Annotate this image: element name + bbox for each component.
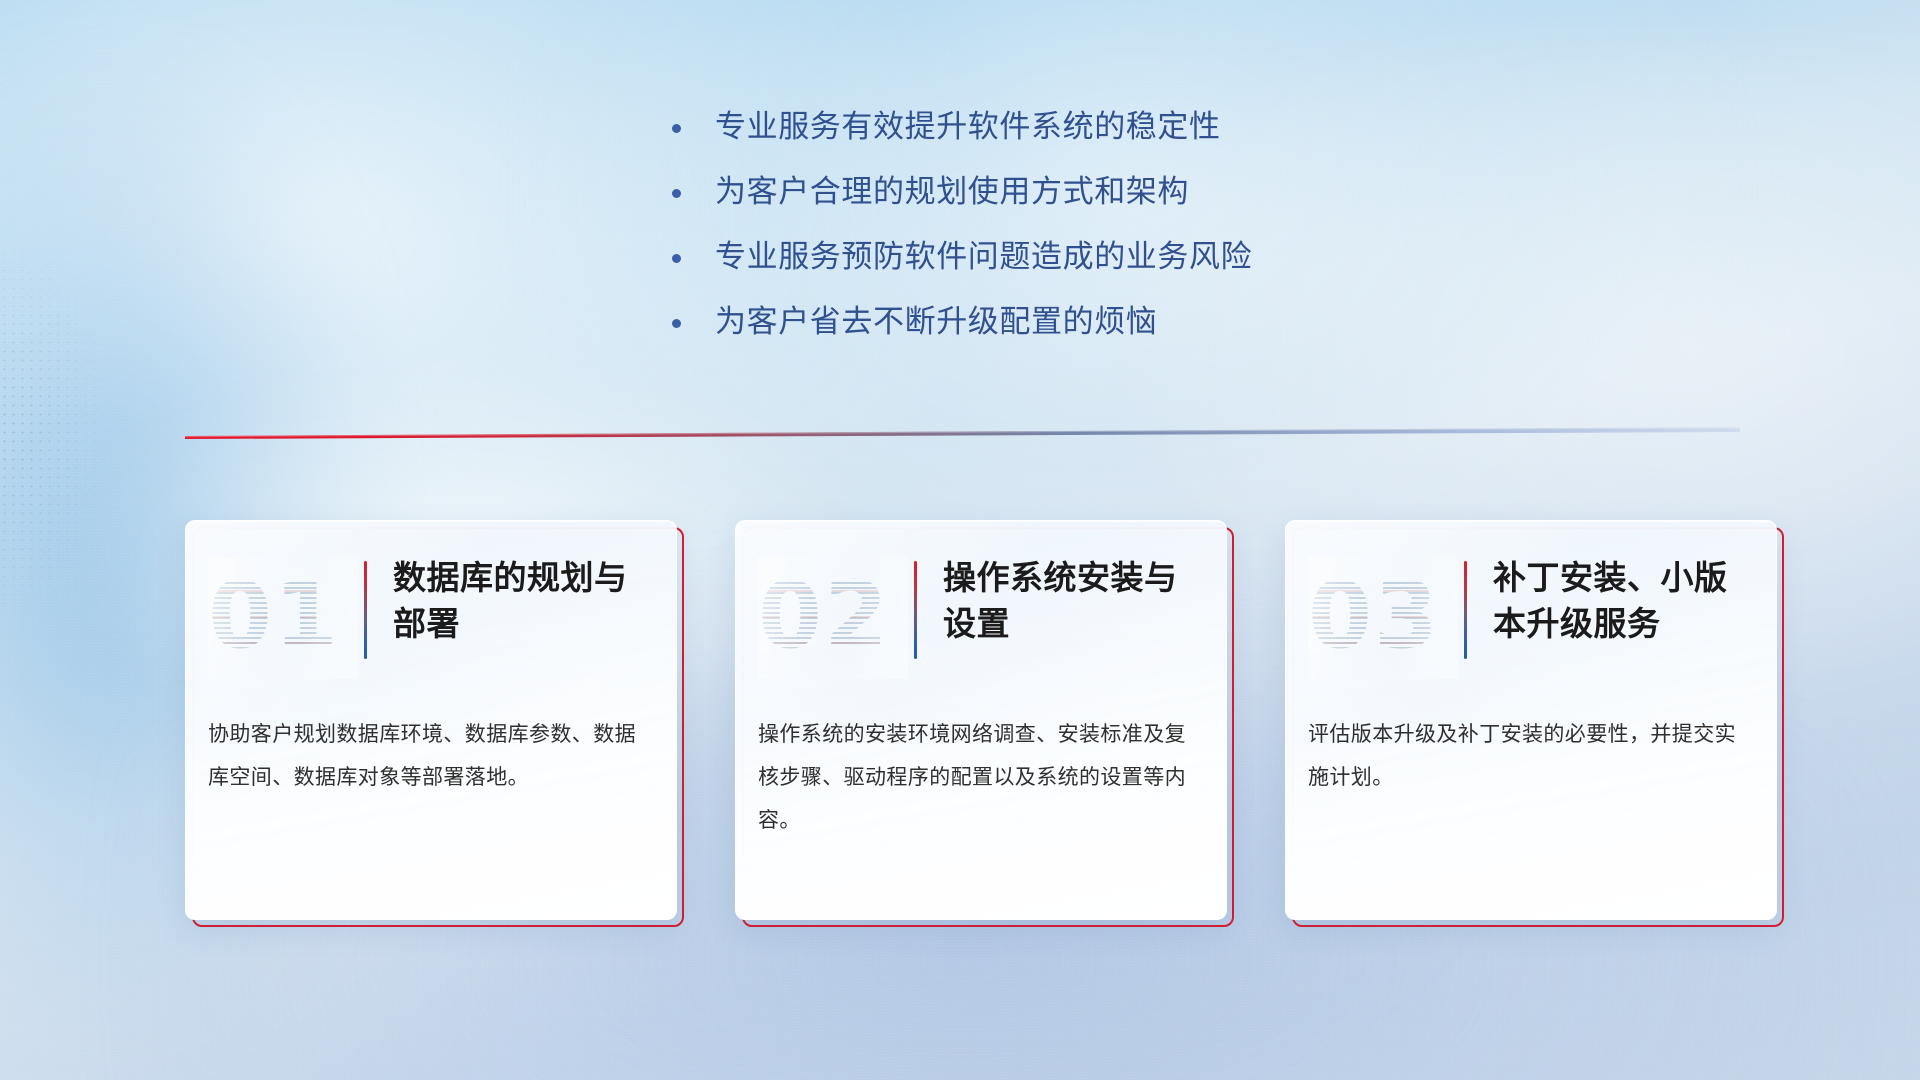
card-number-glyph-tint: 02 — [758, 557, 908, 675]
card-title-rule-icon — [1464, 561, 1467, 659]
card-title-rule-icon — [914, 561, 917, 659]
benefits-bullet-list: 专业服务有效提升软件系统的稳定性 为客户合理的规划使用方式和架构 专业服务预防软… — [672, 106, 1252, 342]
card-body-text: 操作系统的安装环境网络调查、安装标准及复核步骤、驱动程序的配置以及系统的设置等内… — [736, 699, 1226, 842]
bullet-label: 专业服务预防软件问题造成的业务风险 — [715, 236, 1252, 277]
card-number-decoration: 02 02 — [758, 557, 908, 679]
card-surface[interactable]: 01 01 数据库的规划与部署 协助客户规划数据库环境、数据库参数、数据库空间、… — [185, 520, 677, 920]
card-header: 01 01 数据库的规划与部署 — [186, 521, 676, 699]
card-number-decoration: 03 03 — [1308, 557, 1458, 679]
card-header: 03 03 补丁安装、小版本升级服务 — [1286, 521, 1776, 699]
card-number-decoration: 01 01 — [208, 557, 358, 679]
bullet-dot-icon — [672, 319, 681, 328]
bullet-dot-icon — [672, 254, 681, 263]
card-title: 操作系统安装与设置 — [943, 553, 1196, 647]
section-divider — [185, 426, 1740, 444]
bullet-label: 为客户合理的规划使用方式和架构 — [715, 171, 1189, 212]
bullet-label: 为客户省去不断升级配置的烦恼 — [715, 301, 1157, 342]
bullet-dot-icon — [672, 124, 681, 133]
card-title: 补丁安装、小版本升级服务 — [1493, 553, 1746, 647]
service-card-01[interactable]: 01 01 数据库的规划与部署 协助客户规划数据库环境、数据库参数、数据库空间、… — [185, 520, 677, 920]
slide-stage: 专业服务有效提升软件系统的稳定性 为客户合理的规划使用方式和架构 专业服务预防软… — [0, 0, 1920, 1080]
card-number-glyph-tint: 01 — [208, 557, 358, 675]
card-title-rule-icon — [364, 561, 367, 659]
bullet-item: 为客户省去不断升级配置的烦恼 — [672, 301, 1252, 342]
bullet-item: 专业服务有效提升软件系统的稳定性 — [672, 106, 1252, 147]
bullet-item: 为客户合理的规划使用方式和架构 — [672, 171, 1252, 212]
service-card-list: 01 01 数据库的规划与部署 协助客户规划数据库环境、数据库参数、数据库空间、… — [185, 520, 1777, 920]
card-number-glyph-tint: 03 — [1308, 557, 1458, 675]
card-surface[interactable]: 02 02 操作系统安装与设置 操作系统的安装环境网络调查、安装标准及复核步骤、… — [735, 520, 1227, 920]
bullet-item: 专业服务预防软件问题造成的业务风险 — [672, 236, 1252, 277]
card-body-text: 协助客户规划数据库环境、数据库参数、数据库空间、数据库对象等部署落地。 — [186, 699, 676, 799]
card-body-text: 评估版本升级及补丁安装的必要性，并提交实施计划。 — [1286, 699, 1776, 799]
bullet-dot-icon — [672, 189, 681, 198]
bullet-label: 专业服务有效提升软件系统的稳定性 — [715, 106, 1221, 147]
service-card-02[interactable]: 02 02 操作系统安装与设置 操作系统的安装环境网络调查、安装标准及复核步骤、… — [735, 520, 1227, 920]
card-title: 数据库的规划与部署 — [393, 553, 646, 647]
service-card-03[interactable]: 03 03 补丁安装、小版本升级服务 评估版本升级及补丁安装的必要性，并提交实施… — [1285, 520, 1777, 920]
card-header: 02 02 操作系统安装与设置 — [736, 521, 1226, 699]
card-surface[interactable]: 03 03 补丁安装、小版本升级服务 评估版本升级及补丁安装的必要性，并提交实施… — [1285, 520, 1777, 920]
